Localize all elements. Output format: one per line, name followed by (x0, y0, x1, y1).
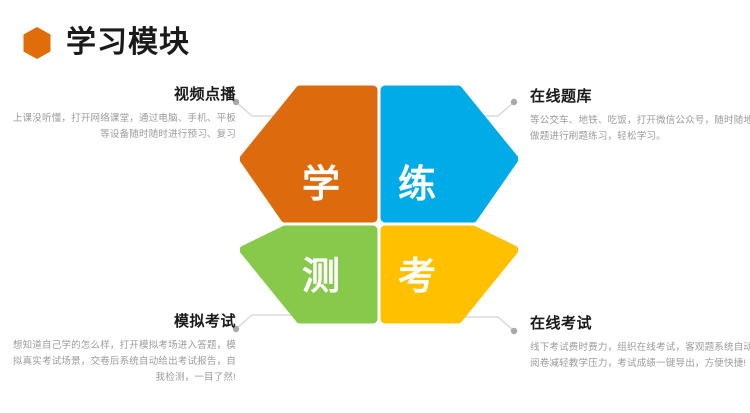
pentagon-xue-outline (244, 90, 373, 218)
text-block-mock: 模拟考试 想知道自己学的怎么样，打开模拟考场进入答题，模拟真实考试场景，交卷后系… (4, 313, 236, 386)
quadrant-diagram: 学 练 测 考 (240, 82, 518, 327)
text-block-video: 视频点播 上课没听懂，打开网络课堂，通过电脑、手机、平板等设备随时随时进行预习、… (4, 86, 236, 143)
slide-canvas: 学习模块 学 练 测 考 (0, 0, 750, 413)
heading-exam: 在线考试 (530, 315, 750, 333)
body-bank: 等公交车、地铁、吃饭，打开微信公众号，随时随地做题进行刷题练习，轻松学习。 (530, 113, 750, 145)
pentagon-lian[interactable] (385, 90, 514, 218)
body-video: 上课没听懂，打开网络课堂，通过电脑、手机、平板等设备随时随时进行预习、复习 (4, 111, 236, 143)
pentagon-kao[interactable] (385, 230, 514, 319)
heading-bank: 在线题库 (530, 88, 750, 106)
text-block-exam: 在线考试 线下考试费时费力，组织在线考试，客观题系统自动阅卷减轻教学压力，考试成… (530, 315, 750, 372)
body-mock: 想知道自己学的怎么样，打开模拟考场进入答题，模拟真实考试场景，交卷后系统自动给出… (4, 338, 236, 386)
text-block-bank: 在线题库 等公交车、地铁、吃饭，打开微信公众号，随时随地做题进行刷题练习，轻松学… (530, 88, 750, 145)
pentagon-group (240, 82, 518, 327)
heading-mock: 模拟考试 (4, 313, 236, 331)
body-exam: 线下考试费时费力，组织在线考试，客观题系统自动阅卷减轻教学压力，考试成绩一键导出… (530, 340, 750, 372)
pentagon-ce[interactable] (244, 230, 373, 319)
connector-dot-bottom-right (511, 328, 517, 334)
heading-video: 视频点播 (4, 86, 236, 104)
